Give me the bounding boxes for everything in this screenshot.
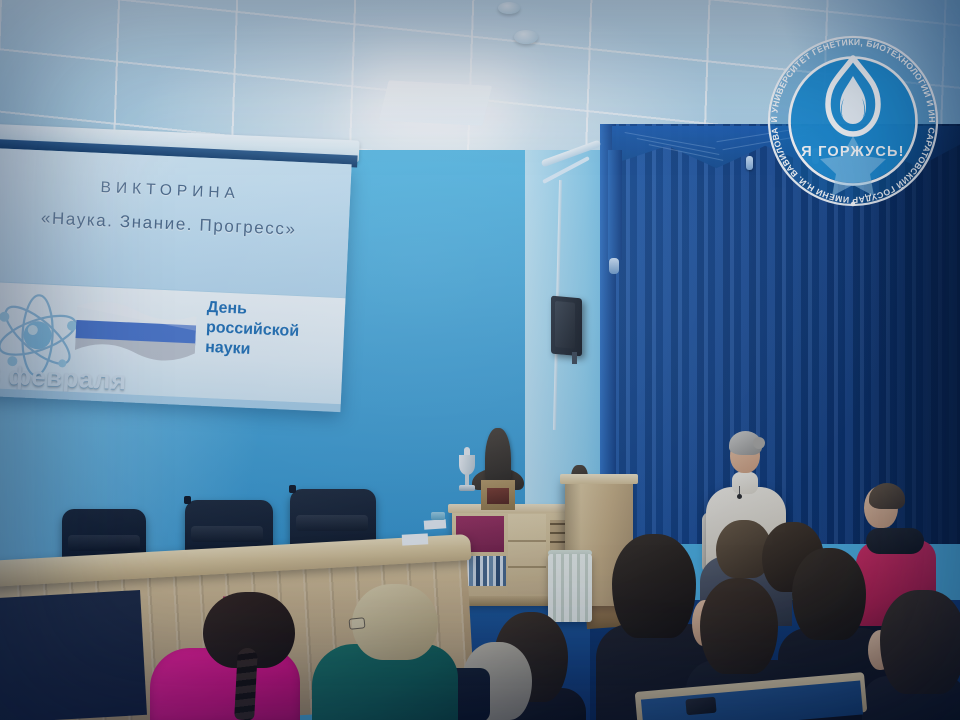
audience-red-hoodie-collar [866,528,924,554]
presenter-hair-bun [753,437,765,449]
chair-headrest-nub [289,485,296,493]
bronze-bust [485,428,511,484]
speaker-bracket [572,352,577,364]
desk-papers [402,533,429,545]
presenter-neck [732,472,758,494]
speaker-grille [555,301,575,349]
slide-date-label: 8 февраля [0,359,127,396]
audience-red-hoodie-hair [869,483,905,509]
trophy-base [459,485,475,491]
panel-light-icon [379,80,493,126]
chair-headrest-nub [184,496,191,504]
smoke-detector-icon [498,2,520,14]
desk-dark-panel [0,590,147,720]
smartphone-icon[interactable] [685,697,716,716]
university-watermark-logo: СТВЕННЫЙ УНИВЕРСИТЕТ ГЕНЕТИКИ, БИОТЕХНОЛ… [760,28,946,214]
slide-bottom-band: День российской науки 8 февраля [0,281,346,404]
lectern-top [560,474,638,484]
bust-plaque [487,488,509,504]
presenter-necklace-pendant [737,494,742,499]
slide-band-title: День российской науки [205,298,340,364]
curtain-fold [608,150,622,260]
cabinet-drawers[interactable] [508,514,546,594]
curtain-tassel [609,258,619,274]
desk-object [431,512,445,520]
oil-radiator [548,554,592,622]
curtain-tassel [746,156,753,170]
desk-papers [424,519,447,530]
audience-head [700,578,778,674]
watermark-slogan: Я ГОРЖУСЬ! [801,144,904,160]
loudspeaker-icon [551,296,582,357]
drawer-seam [508,566,546,568]
conference-hall-photo: ВИКТОРИНА «Наука. Знание. Прогресс» [0,0,960,720]
trophy-cup [459,455,475,475]
audience-braid [234,648,258,720]
eyeglasses-icon [348,617,365,630]
drawer-seam [508,540,546,542]
audience-head [612,534,696,638]
smoke-detector-icon [514,30,538,44]
audience-head [792,548,866,640]
ring-separator-dot [851,202,855,206]
audience-head [880,590,960,694]
projector-screen: ВИКТОРИНА «Наука. Знание. Прогресс» [0,148,352,412]
